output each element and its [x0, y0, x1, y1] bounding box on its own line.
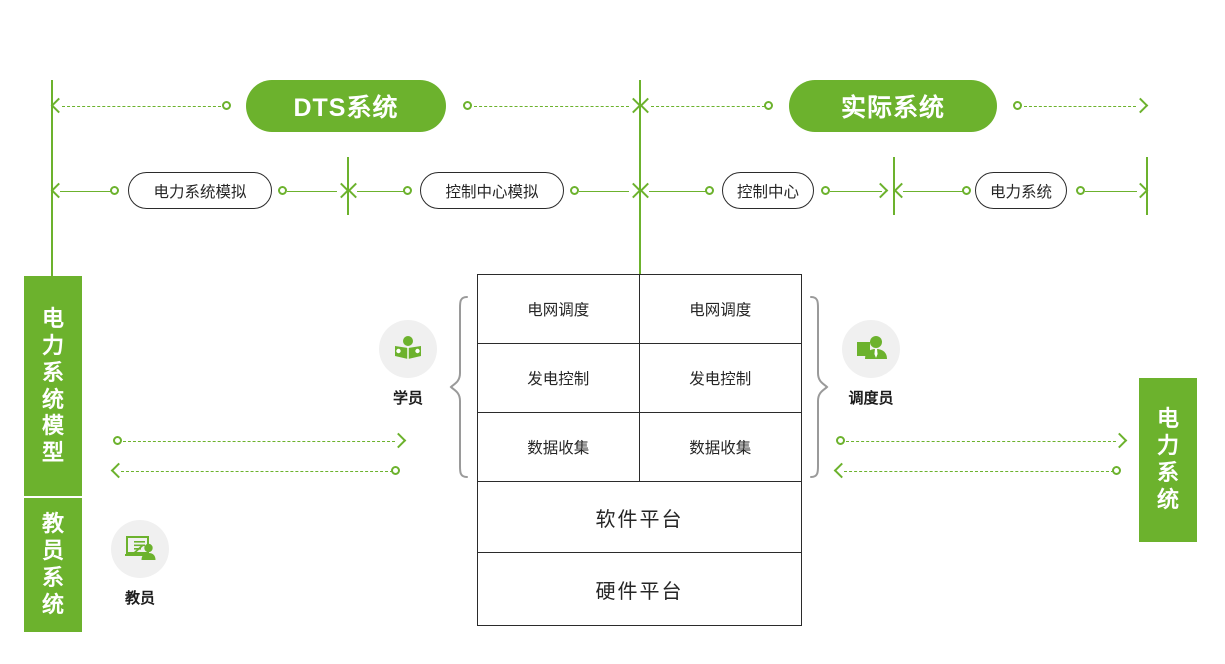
- person-reading-book-icon: [391, 332, 425, 366]
- brace-left: [448, 294, 470, 480]
- row2-dot-d-left: [962, 186, 971, 195]
- pill-power-sim-label: 电力系统模拟: [153, 180, 246, 202]
- row2-line-d-right: [1085, 191, 1137, 192]
- row2-line-a-right: [287, 191, 337, 192]
- row2-dot-a-left: [110, 186, 119, 195]
- left-bar-power-model[interactable]: 电力系统模型: [24, 276, 82, 497]
- row2-line-b-right: [579, 191, 629, 192]
- row2-arrow-c-right: [873, 183, 889, 199]
- teacher-at-board-icon: [123, 532, 157, 566]
- avatar-dispatcher[interactable]: 调度员: [842, 320, 900, 408]
- left-exchange-out-dash: [123, 441, 395, 442]
- row1-dot-left: [222, 101, 231, 110]
- avatar-instructor-label: 教员: [125, 587, 155, 608]
- table-cell: 数据收集: [478, 413, 640, 481]
- row1-dash-left: [62, 106, 226, 107]
- row2-line-a-left: [60, 191, 112, 192]
- pill-control-sim[interactable]: 控制中心模拟: [420, 172, 564, 209]
- banner-dts[interactable]: DTS系统: [246, 80, 446, 132]
- pill-control-center[interactable]: 控制中心: [722, 172, 814, 209]
- brace-right: [808, 294, 830, 480]
- avatar-student[interactable]: 学员: [379, 320, 437, 408]
- row1-dash-right: [1024, 106, 1136, 107]
- banner-actual[interactable]: 实际系统: [789, 80, 997, 132]
- right-exchange-in-dash: [844, 471, 1114, 472]
- guide-rail-center: [639, 80, 641, 276]
- table-cell-software-platform: 软件平台: [478, 482, 801, 552]
- right-exchange-out-dash: [846, 441, 1116, 442]
- row1-dot-actual-left: [764, 101, 773, 110]
- row2-dot-c-right: [821, 186, 830, 195]
- guide-rail-left: [51, 80, 53, 276]
- guide-rail-mid-actual: [893, 157, 895, 215]
- row1-dot-dts-right: [463, 101, 472, 110]
- row1-dash-actual-left: [651, 106, 765, 107]
- architecture-table: 电网调度 电网调度 发电控制 发电控制 数据收集 数据收集 软件平台 硬件平台: [477, 274, 802, 626]
- table-cell: 电网调度: [478, 275, 640, 343]
- right-exchange-out-arrow: [1112, 433, 1128, 449]
- banner-dts-label: DTS系统: [293, 88, 398, 124]
- table-cell: 发电控制: [478, 344, 640, 412]
- table-row: 电网调度 电网调度: [478, 275, 801, 344]
- pill-power-system[interactable]: 电力系统: [975, 172, 1067, 209]
- left-exchange-out-arrow: [391, 433, 407, 449]
- avatar-circle: [111, 520, 169, 578]
- left-bar-instructor-system-label: 教员系统: [41, 511, 65, 618]
- table-cell-hardware-platform: 硬件平台: [478, 553, 801, 625]
- right-exchange-in-dot: [1112, 466, 1121, 475]
- row1-arrow-right: [1133, 98, 1149, 114]
- avatar-instructor[interactable]: 教员: [111, 520, 169, 608]
- row2-line-b-left: [357, 191, 405, 192]
- avatar-student-label: 学员: [393, 387, 423, 408]
- table-row: 发电控制 发电控制: [478, 344, 801, 413]
- left-bar-power-model-label: 电力系统模型: [41, 306, 65, 467]
- table-row: 数据收集 数据收集: [478, 413, 801, 482]
- row2-dot-a-right: [278, 186, 287, 195]
- table-cell: 电网调度: [640, 275, 802, 343]
- right-exchange-out-dot: [836, 436, 845, 445]
- row2-line-d-left: [903, 191, 965, 192]
- table-cell: 发电控制: [640, 344, 802, 412]
- row2-dot-b-left: [403, 186, 412, 195]
- person-with-monitor-icon: [854, 332, 888, 366]
- guide-rail-mid-dts: [347, 157, 349, 215]
- pill-power-system-label: 电力系统: [990, 180, 1052, 202]
- table-row: 软件平台: [478, 482, 801, 553]
- avatar-circle: [842, 320, 900, 378]
- row1-dot-actual-right: [1013, 101, 1022, 110]
- left-bar-instructor-system[interactable]: 教员系统: [24, 498, 82, 632]
- row2-line-c-left: [649, 191, 707, 192]
- pill-control-center-label: 控制中心: [737, 180, 799, 202]
- diagram-canvas: DTS系统 实际系统 电力系统模拟 控制中心模拟 控制中心 电力系统: [0, 0, 1225, 664]
- pill-control-sim-label: 控制中心模拟: [445, 180, 538, 202]
- left-exchange-out-dot: [113, 436, 122, 445]
- row2-dot-c-left: [705, 186, 714, 195]
- table-cell: 数据收集: [640, 413, 802, 481]
- right-bar-power-system-label: 电力系统: [1156, 406, 1180, 513]
- row2-dot-d-right: [1076, 186, 1085, 195]
- avatar-circle: [379, 320, 437, 378]
- row1-dash-dts-right: [474, 106, 629, 107]
- left-exchange-in-dot: [391, 466, 400, 475]
- guide-rail-right: [1146, 157, 1148, 215]
- avatar-dispatcher-label: 调度员: [848, 387, 893, 408]
- banner-actual-label: 实际系统: [841, 88, 945, 124]
- right-bar-power-system[interactable]: 电力系统: [1139, 378, 1197, 542]
- left-bar-divider: [24, 496, 82, 498]
- row2-dot-b-right: [570, 186, 579, 195]
- pill-power-sim[interactable]: 电力系统模拟: [128, 172, 272, 209]
- left-exchange-in-dash: [121, 471, 393, 472]
- table-row: 硬件平台: [478, 553, 801, 625]
